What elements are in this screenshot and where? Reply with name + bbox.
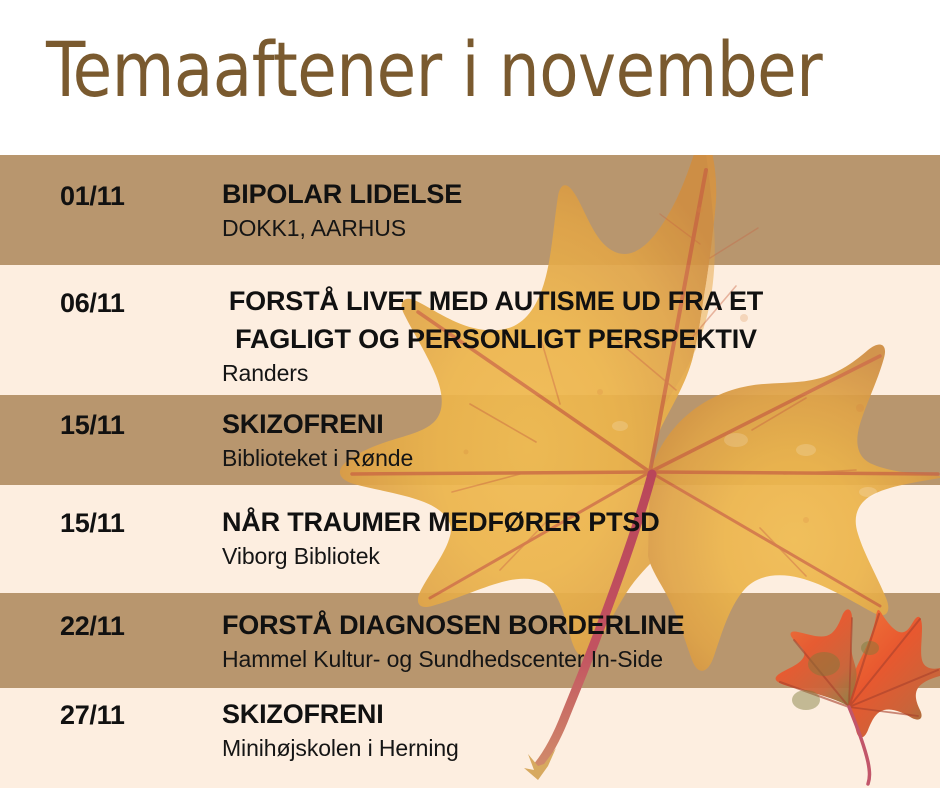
event-title: SKIZOFRENI (222, 405, 930, 443)
event-venue: Minihøjskolen i Herning (222, 733, 930, 763)
event-title: BIPOLAR LIDELSE (222, 175, 930, 213)
event-body: SKIZOFRENI Minihøjskolen i Herning (222, 695, 930, 763)
page-title: Temaaftener i november (46, 22, 822, 118)
event-body: FORSTÅ DIAGNOSEN BORDERLINE Hammel Kultu… (222, 606, 930, 674)
event-date: 15/11 (60, 410, 210, 441)
event-title: NÅR TRAUMER MEDFØRER PTSD (222, 503, 930, 541)
event-date: 06/11 (60, 288, 210, 319)
event-venue: Randers (222, 358, 930, 388)
event-body: BIPOLAR LIDELSE DOKK1, AARHUS (222, 175, 930, 243)
event-body: FORSTÅ LIVET MED AUTISME UD FRA ET FAGLI… (222, 282, 930, 388)
event-venue: Viborg Bibliotek (222, 541, 930, 571)
event-title: FORSTÅ LIVET MED AUTISME UD FRA ET FAGLI… (222, 282, 930, 358)
event-venue: Hammel Kultur- og Sundhedscenter In-Side (222, 644, 930, 674)
event-date: 27/11 (60, 700, 210, 731)
event-venue: DOKK1, AARHUS (222, 213, 930, 243)
event-title: FORSTÅ DIAGNOSEN BORDERLINE (222, 606, 930, 644)
title-area: Temaaftener i november (0, 0, 940, 155)
event-body: NÅR TRAUMER MEDFØRER PTSD Viborg Bibliot… (222, 503, 930, 571)
poster-canvas: Temaaftener i november 01/11 BIPOLAR LID… (0, 0, 940, 788)
event-body: SKIZOFRENI Biblioteket i Rønde (222, 405, 930, 473)
event-title: SKIZOFRENI (222, 695, 930, 733)
event-date: 22/11 (60, 611, 210, 642)
event-date: 01/11 (60, 181, 210, 212)
event-date: 15/11 (60, 508, 210, 539)
event-venue: Biblioteket i Rønde (222, 443, 930, 473)
